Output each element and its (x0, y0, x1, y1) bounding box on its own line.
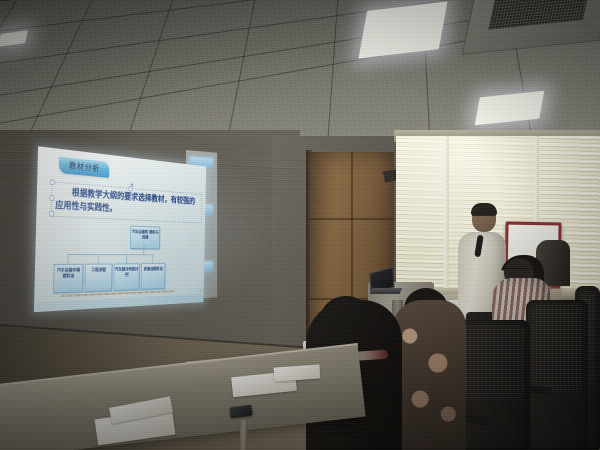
org-chart-root-node: 汽车运输的 燃料与润滑 (130, 226, 160, 250)
chair-mesh-back (532, 305, 582, 390)
audience-floral-shirt (392, 300, 466, 450)
selection-handle[interactable] (128, 186, 133, 192)
org-chart-leaf-node: 润滑油燃料油 (141, 263, 166, 290)
glasses-icon (503, 268, 525, 273)
org-chart-leaf-node: 汽车运输车辆 燃料油 (53, 264, 83, 294)
cabinet-seam (310, 218, 394, 220)
org-chart-leaf-node: 工程流程 (84, 263, 112, 292)
office-chair[interactable] (526, 300, 588, 450)
slide-body-text: 根据教学大纲的要求选择教材，有较强的应用性与实践性。 (51, 181, 202, 223)
org-connector (68, 254, 144, 255)
projection-screen: 教材分析 ✳ 根据教学大纲的要求选择教材，有较强的应用性与实践性。 汽车运输的 … (34, 146, 206, 312)
powerpoint-slide: 教材分析 ✳ 根据教学大纲的要求选择教材，有较强的应用性与实践性。 汽车运输的 … (34, 146, 206, 312)
selection-handle[interactable] (49, 195, 54, 201)
laptop-keyboard[interactable] (370, 288, 403, 294)
org-chart-leaf-node: 汽车制冷剂制冷剂 (113, 263, 139, 291)
slide-title: 教材分析 (59, 157, 110, 178)
selection-handle[interactable] (49, 211, 54, 217)
ac-grille-icon (488, 0, 589, 30)
selection-handle[interactable] (50, 179, 55, 185)
org-connector (144, 254, 153, 255)
glasses-icon (472, 215, 493, 220)
org-connector (126, 254, 127, 263)
window-mullion (444, 136, 449, 294)
office-chair[interactable] (456, 320, 530, 450)
org-connector (68, 254, 69, 264)
table-leg (240, 420, 248, 450)
photo-scene: 教材分析 ✳ 根据教学大纲的要求选择教材，有较强的应用性与实践性。 汽车运输的 … (0, 0, 600, 450)
org-connector (152, 254, 153, 263)
chair-mesh-back (462, 325, 524, 398)
org-connector (98, 254, 99, 263)
slide-page-number: 8 (200, 289, 202, 293)
org-connector (143, 244, 144, 255)
